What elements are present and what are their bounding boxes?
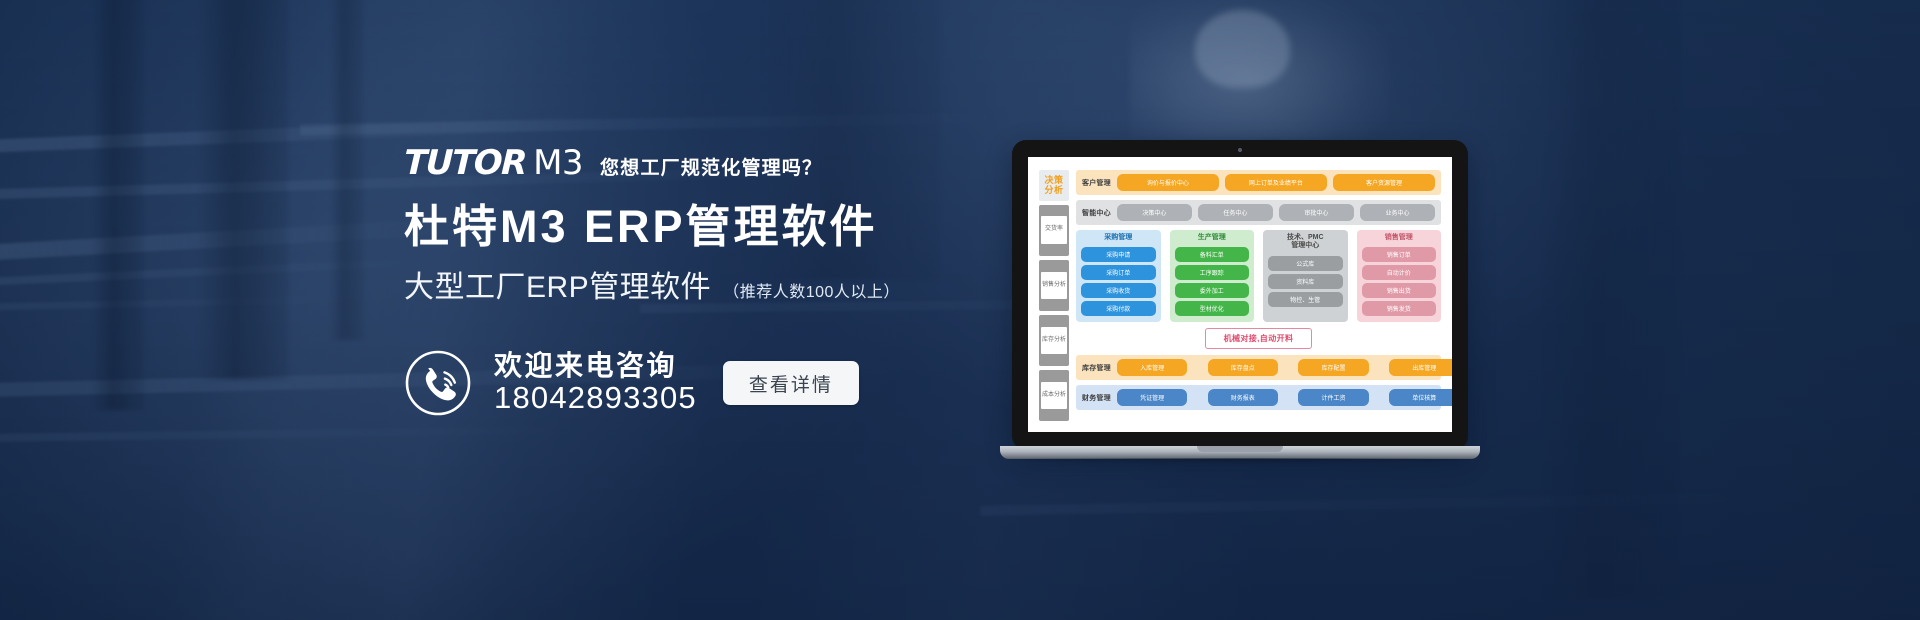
erp-sidebar-item-label: 交货率 <box>1041 216 1067 244</box>
erp-column-item: 销售发货 <box>1362 301 1437 316</box>
erp-chip: 库存配置 <box>1298 359 1369 376</box>
erp-column-item: 采购付款 <box>1081 301 1156 316</box>
erp-chip: 财务报表 <box>1208 389 1279 406</box>
hero-subtitle-row: 大型工厂ERP管理软件 （推荐人数100人以上） <box>404 273 1104 303</box>
erp-chip: 库存盘点 <box>1208 359 1279 376</box>
erp-architecture-diagram: 决策分析 交货率 销售分析 库存分析 成本分析 客户管理 询价与报价中心 网上订… <box>1028 157 1452 432</box>
erp-band-stock: 库存管理 入库管理 库存盘点 库存配置 出库管理 <box>1076 355 1441 380</box>
hero-subtitle-note: （推荐人数100人以上） <box>723 278 900 302</box>
erp-module-columns: 采购管理 采购申请 采购订单 采购收货 采购付款 生产管理 备料汇单 工序跟踪 … <box>1076 230 1441 322</box>
hero-banner: TUTOR M3 您想工厂规范化管理吗？ 杜特M3 ERP管理软件 大型工厂ER… <box>0 0 1920 620</box>
contact-welcome-label: 欢迎来电咨询 <box>494 350 697 381</box>
logo-m3-text: M3 <box>533 146 583 180</box>
erp-chip: 入库管理 <box>1117 359 1188 376</box>
page-title: 杜特M3 ERP管理软件 <box>404 200 1104 253</box>
erp-highlight-row: 机械对接,自动开料 <box>1076 327 1441 350</box>
erp-sidebar-item: 库存分析 <box>1039 315 1069 366</box>
erp-column-item: 备料汇单 <box>1175 247 1250 262</box>
erp-sidebar-item: 交货率 <box>1039 205 1069 256</box>
erp-main-area: 客户管理 询价与报价中心 网上订单及业绩平台 客户资源管理 智能中心 决策中心 … <box>1076 170 1441 421</box>
erp-column-item: 工序跟踪 <box>1175 265 1250 280</box>
erp-chip: 客户资源管理 <box>1333 174 1435 191</box>
erp-column-item: 物控、生管 <box>1268 292 1343 307</box>
erp-column-item: 采购收货 <box>1081 283 1156 298</box>
erp-sidebar-item-label: 库存分析 <box>1041 327 1067 355</box>
erp-sidebar-item: 销售分析 <box>1039 260 1069 311</box>
erp-column-item: 型材优化 <box>1175 301 1250 316</box>
erp-chip: 计件工资 <box>1298 389 1369 406</box>
hero-subtitle: 大型工厂ERP管理软件 <box>404 273 711 303</box>
laptop-mockup: 决策分析 交货率 销售分析 库存分析 成本分析 客户管理 询价与报价中心 网上订… <box>1000 140 1480 470</box>
erp-sidebar-item-label: 销售分析 <box>1041 272 1067 300</box>
contact-row: 欢迎来电咨询 18042893305 查看详情 <box>404 349 1104 417</box>
erp-sidebar-item: 成本分析 <box>1039 370 1069 421</box>
erp-chip: 任务中心 <box>1198 204 1273 221</box>
hero-copy: TUTOR M3 您想工厂规范化管理吗？ 杜特M3 ERP管理软件 大型工厂ER… <box>404 146 1104 417</box>
erp-chip: 凭证管理 <box>1117 389 1188 406</box>
erp-column-technology: 技术、PMC 管理中心 公式库 资料库 物控、生管 <box>1263 230 1348 322</box>
phone-call-icon <box>404 349 472 417</box>
erp-sidebar: 决策分析 交货率 销售分析 库存分析 成本分析 <box>1039 170 1069 421</box>
erp-chip: 决策中心 <box>1117 204 1192 221</box>
erp-chip: 单位核算 <box>1389 389 1452 406</box>
erp-column-title: 采购管理 <box>1081 234 1156 242</box>
erp-band-customer: 客户管理 询价与报价中心 网上订单及业绩平台 客户资源管理 <box>1076 170 1441 195</box>
erp-chip: 审批中心 <box>1279 204 1354 221</box>
erp-column-item: 委外加工 <box>1175 283 1250 298</box>
erp-column-sales: 销售管理 销售订单 自动计价 销售出货 销售发货 <box>1357 230 1442 322</box>
erp-column-title: 生产管理 <box>1175 234 1250 242</box>
erp-column-item: 资料库 <box>1268 274 1343 289</box>
erp-column-item: 自动计价 <box>1362 265 1437 280</box>
erp-chip: 询价与报价中心 <box>1117 174 1219 191</box>
erp-sidebar-header: 决策分析 <box>1039 170 1069 201</box>
erp-band-label: 智能中心 <box>1082 208 1111 218</box>
logo-tutor-text: TUTOR <box>403 146 526 180</box>
erp-band-label: 库存管理 <box>1082 363 1111 373</box>
erp-band-smart: 智能中心 决策中心 任务中心 审批中心 业务中心 <box>1076 200 1441 225</box>
brand-tagline: 您想工厂规范化管理吗？ <box>600 159 822 178</box>
erp-column-title: 技术、PMC 管理中心 <box>1268 234 1343 251</box>
erp-chip: 出库管理 <box>1389 359 1452 376</box>
erp-band-label: 客户管理 <box>1082 178 1111 188</box>
erp-column-purchase: 采购管理 采购申请 采购订单 采购收货 采购付款 <box>1076 230 1161 322</box>
erp-column-production: 生产管理 备料汇单 工序跟踪 委外加工 型材优化 <box>1170 230 1255 322</box>
laptop-lid: 决策分析 交货率 销售分析 库存分析 成本分析 客户管理 询价与报价中心 网上订… <box>1012 140 1468 450</box>
contact-phone-number[interactable]: 18042893305 <box>494 381 697 416</box>
erp-sidebar-item-label: 成本分析 <box>1041 382 1067 410</box>
contact-text: 欢迎来电咨询 18042893305 <box>494 350 697 416</box>
erp-column-item: 采购订单 <box>1081 265 1156 280</box>
erp-chip: 网上订单及业绩平台 <box>1225 174 1327 191</box>
erp-column-item: 销售订单 <box>1362 247 1437 262</box>
erp-column-item: 销售出货 <box>1362 283 1437 298</box>
erp-column-item: 公式库 <box>1268 256 1343 271</box>
laptop-shadow <box>984 458 1496 465</box>
view-details-button[interactable]: 查看详情 <box>723 361 859 405</box>
brand-logo: TUTOR M3 您想工厂规范化管理吗？ <box>404 146 1104 186</box>
laptop-screen: 决策分析 交货率 销售分析 库存分析 成本分析 客户管理 询价与报价中心 网上订… <box>1028 157 1452 432</box>
erp-column-item: 采购申请 <box>1081 247 1156 262</box>
erp-chip: 业务中心 <box>1360 204 1435 221</box>
webcam-dot <box>1238 148 1242 152</box>
erp-band-finance: 财务管理 凭证管理 财务报表 计件工资 单位核算 <box>1076 385 1441 410</box>
erp-column-title: 销售管理 <box>1362 234 1437 242</box>
laptop-base-notch <box>1197 446 1283 452</box>
erp-highlight-callout: 机械对接,自动开料 <box>1205 328 1313 349</box>
erp-band-label: 财务管理 <box>1082 393 1111 403</box>
